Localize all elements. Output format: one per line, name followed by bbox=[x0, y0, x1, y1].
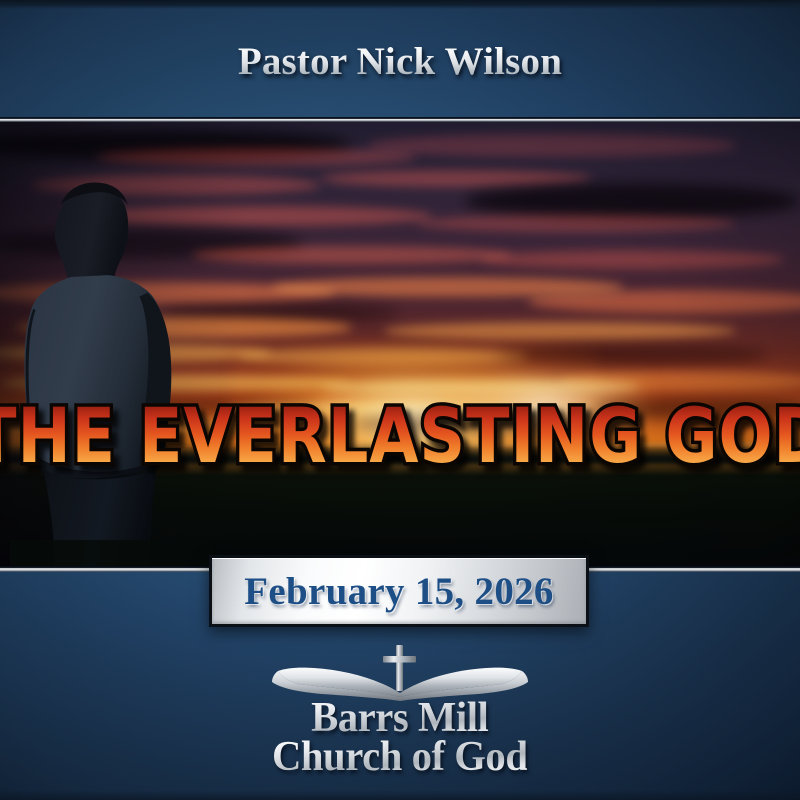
header: Pastor Nick Wilson bbox=[0, 30, 800, 92]
logo-mark bbox=[250, 643, 550, 701]
sermon-title-wrapper: THE EVERLASTING GOD THE EVERLASTING GOD bbox=[0, 393, 800, 479]
background-top-edge bbox=[0, 0, 800, 9]
cross-icon bbox=[383, 645, 416, 691]
pastor-name: Pastor Nick Wilson bbox=[238, 39, 562, 84]
date-banner: February 15, 2026 bbox=[209, 555, 589, 627]
sermon-title: THE EVERLASTING GOD THE EVERLASTING GOD bbox=[0, 398, 800, 474]
church-logo: Barrs Mill Church of God bbox=[0, 643, 800, 783]
photo-frame-top-edge bbox=[0, 117, 800, 122]
service-date: February 15, 2026 bbox=[244, 569, 553, 614]
background-bottom-edge bbox=[0, 790, 800, 800]
logo-line-1: Barrs Mill bbox=[272, 699, 528, 738]
logo-line-2: Church of God bbox=[272, 738, 528, 777]
silhouette-man bbox=[8, 175, 216, 567]
sermon-poster: Pastor Nick Wilson bbox=[0, 0, 800, 800]
hero-photo-band: THE EVERLASTING GOD THE EVERLASTING GOD bbox=[0, 117, 800, 572]
logo-text: Barrs Mill Church of God bbox=[268, 699, 531, 776]
sermon-title-fill: THE EVERLASTING GOD bbox=[0, 391, 800, 480]
sunset-photo bbox=[0, 121, 800, 567]
